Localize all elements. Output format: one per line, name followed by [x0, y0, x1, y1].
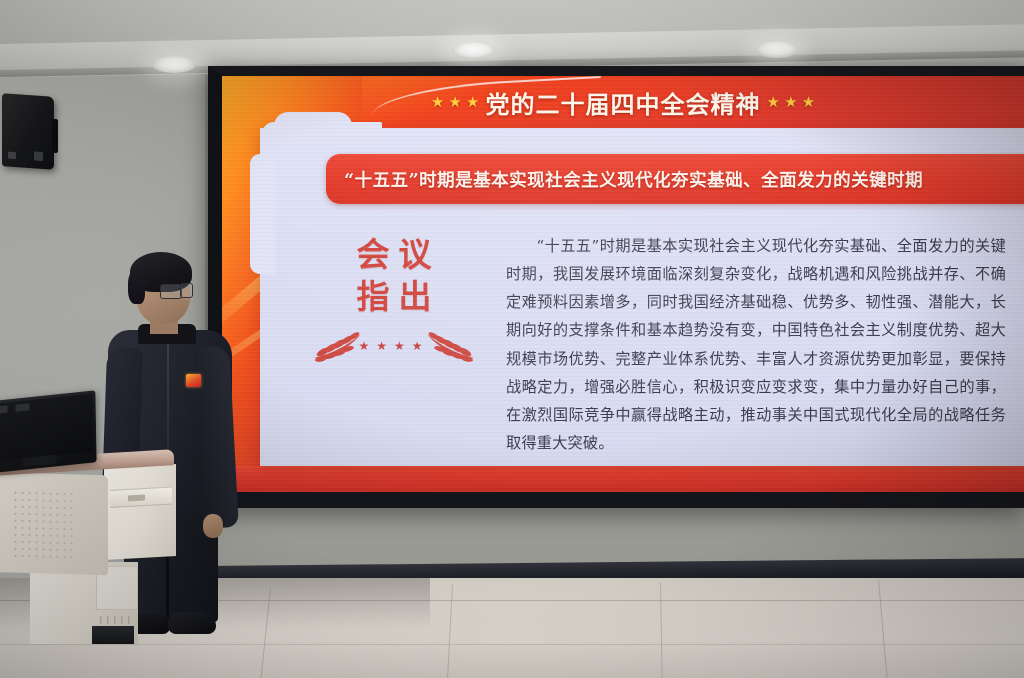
party-emblem-badge-icon — [186, 374, 201, 387]
slide-headline-bar: “十五五”时期是基本实现社会主义现代化夯实基础、全面发力的关键时期 — [326, 154, 1024, 204]
podium[interactable] — [0, 450, 182, 640]
monitor-screen[interactable] — [0, 394, 93, 463]
slide-headline-text: “十五五”时期是基本实现社会主义现代化夯实基础、全面发力的关键时期 — [326, 167, 923, 192]
glasses-lens-right-icon — [180, 283, 193, 298]
floor-tile-seam — [447, 584, 453, 678]
photo-scene: ★ ★ ★ 党的二十届四中全会精神 ★ ★ ★ “十五五”时期是基本实现社会主义… — [0, 0, 1024, 678]
slide-content-card: “十五五”时期是基本实现社会主义现代化夯实基础、全面发力的关键时期 会议 指出 — [260, 128, 1024, 466]
wreath-stars-icon: ★★★★ — [309, 339, 479, 353]
monitor-sticker-2 — [15, 403, 29, 411]
podium-monitor[interactable] — [0, 390, 97, 473]
slide-bottom-band — [222, 466, 1024, 492]
banner-stars-right-icon: ★ ★ ★ — [767, 95, 816, 110]
downlight-2 — [452, 42, 496, 59]
section-label-line1: 会议 — [296, 234, 492, 276]
slide-surface: ★ ★ ★ 党的二十届四中全会精神 ★ ★ ★ “十五五”时期是基本实现社会主义… — [222, 76, 1024, 492]
led-display[interactable]: ★ ★ ★ 党的二十届四中全会精神 ★ ★ ★ “十五五”时期是基本实现社会主义… — [208, 66, 1024, 508]
podium-vents — [100, 616, 134, 624]
speaker-bracket — [52, 119, 58, 153]
person-hand — [203, 514, 223, 538]
person-hair-side — [128, 270, 145, 304]
speaker-port — [8, 152, 16, 160]
floor-tile-seam — [878, 580, 888, 678]
glasses-icon — [160, 284, 182, 299]
podium-speaker-grille-icon — [12, 489, 74, 563]
podium-foot — [92, 626, 134, 644]
downlight-3 — [755, 41, 799, 58]
slide-body-text: “十五五”时期是基本实现社会主义现代化夯实基础、全面发力的关键时期，我国发展环境… — [506, 232, 1006, 457]
podium-side — [104, 464, 176, 560]
floor-tile-seam — [660, 582, 663, 678]
card-tab-decor-2 — [262, 122, 382, 142]
podium-drawer-handle[interactable] — [128, 495, 145, 502]
speaker-port-2 — [34, 151, 43, 161]
slide-section-label: 会议 指出 — [296, 234, 492, 362]
downlight-1 — [152, 56, 196, 73]
wall-speaker-icon — [2, 93, 54, 170]
laurel-wreath-icon: ★★★★ — [309, 328, 479, 362]
banner-swoosh-decor — [371, 76, 603, 134]
section-label-line2: 指出 — [296, 276, 492, 318]
